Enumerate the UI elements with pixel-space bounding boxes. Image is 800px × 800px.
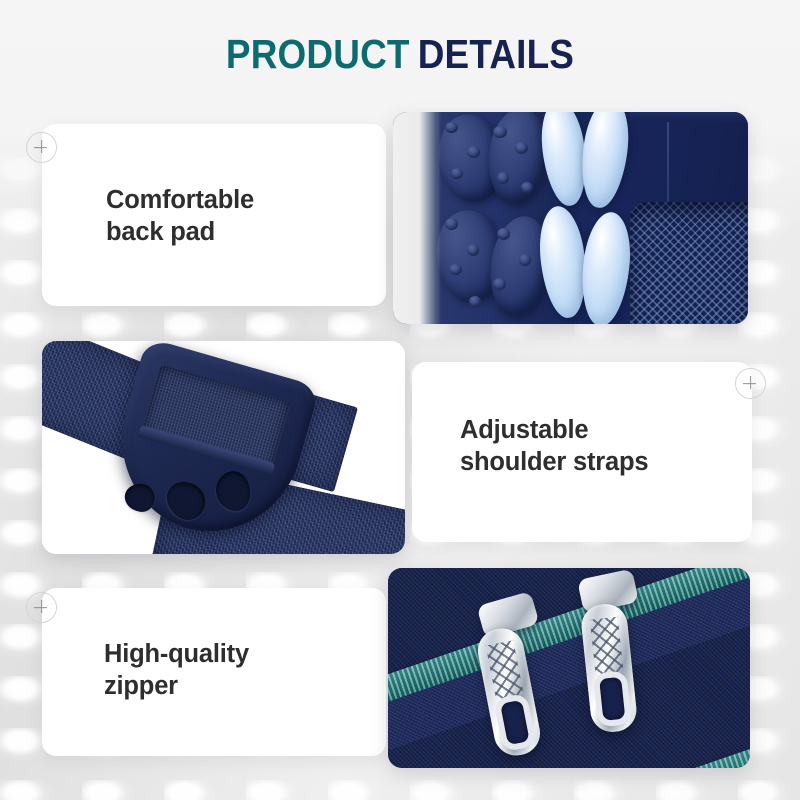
feature-photo-adjustable-shoulder-straps[interactable] [42, 341, 405, 554]
feature-card-comfortable-back-pad[interactable]: Comfortable back pad [42, 124, 386, 306]
mesh-pocket-rim [630, 112, 748, 122]
feature-card-adjustable-shoulder-straps[interactable]: Adjustable shoulder straps [412, 362, 752, 542]
pad-dot [519, 254, 531, 266]
feature-photo-high-quality-zipper[interactable] [388, 568, 750, 768]
mesh-side-pocket [630, 202, 748, 324]
page-title-product: PRODUCT [226, 31, 410, 77]
pad-dot [521, 182, 533, 193]
back-pad-photo [393, 112, 748, 324]
feature-title-comfortable-back-pad: Comfortable back pad [106, 184, 254, 248]
feature-card-high-quality-zipper[interactable]: High-quality zipper [42, 588, 386, 756]
feature-title-line-1: Comfortable [106, 184, 254, 216]
pad-dot [445, 218, 458, 230]
page-title-details: DETAILS [418, 31, 574, 77]
pad-dot [515, 142, 528, 154]
feature-title-high-quality-zipper: High-quality zipper [104, 638, 249, 702]
feature-title-adjustable-shoulder-straps: Adjustable shoulder straps [460, 414, 648, 478]
plus-icon[interactable] [735, 368, 766, 399]
pad-dot [497, 172, 509, 184]
pad-dot [449, 264, 462, 275]
feature-photo-comfortable-back-pad[interactable] [393, 112, 748, 324]
pad-dot [467, 146, 480, 158]
feature-title-line-1: Adjustable [460, 414, 648, 446]
pad-dot [451, 168, 463, 179]
page-title: PRODUCTDETAILS [40, 34, 760, 75]
buckle-hole [159, 474, 212, 526]
pad-dot [497, 228, 510, 240]
zipper-pull-ring [493, 693, 537, 752]
pad-dot [493, 278, 506, 290]
pad-dot [493, 126, 507, 138]
shoulder-strap-photo [42, 341, 405, 554]
pad-dot [469, 296, 481, 307]
feature-title-line-1: High-quality [104, 638, 249, 670]
zipper-photo [388, 568, 750, 768]
buckle-hole [214, 470, 252, 513]
plus-icon[interactable] [26, 132, 57, 163]
plus-icon[interactable] [26, 592, 57, 623]
feature-title-line-2: back pad [106, 216, 254, 248]
feature-title-line-2: shoulder straps [460, 446, 648, 478]
pad-dot [467, 244, 479, 256]
product-details-infographic: PRODUCTDETAILS Comfortable back pad [0, 0, 800, 800]
photo-left-fade [393, 112, 441, 324]
feature-title-line-2: zipper [104, 670, 249, 702]
pad-dot [445, 122, 458, 133]
zipper-pull-ring [593, 670, 632, 727]
